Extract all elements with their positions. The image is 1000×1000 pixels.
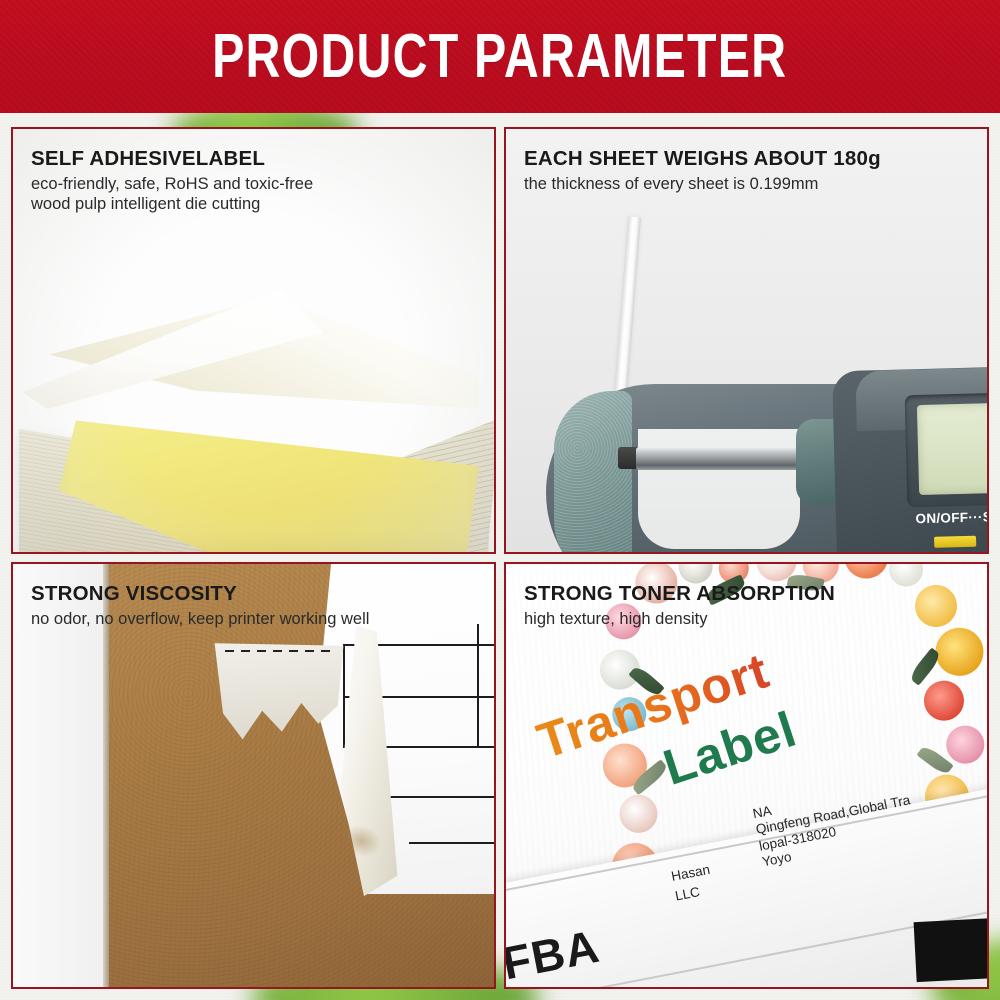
- panel-1-title: SELF ADHESIVELABEL: [31, 147, 478, 171]
- panel-1-subtitle: eco-friendly, safe, RoHS and toxic-free …: [31, 174, 478, 214]
- on-off-set-button[interactable]: [934, 536, 976, 548]
- panel-3-caption: STRONG VISCOSITY no odor, no overflow, k…: [13, 564, 494, 639]
- page-title: PRODUCT PARAMETER: [212, 26, 787, 88]
- panel-4-subtitle: high texture, high density: [524, 609, 971, 629]
- parameter-panel-grid: SELF ADHESIVELABEL eco-friendly, safe, R…: [11, 127, 989, 989]
- page-header: PRODUCT PARAMETER: [0, 0, 1000, 113]
- panel-toner-absorption: Transport Label FBA Hasan LLC Yoyo lopal…: [504, 562, 989, 989]
- micrometer-spindle: [636, 447, 816, 470]
- label-perforation-line: [225, 650, 335, 652]
- panel-4-title: STRONG TONER ABSORPTION: [524, 582, 971, 606]
- panel-4-caption: STRONG TONER ABSORPTION high texture, hi…: [506, 564, 987, 639]
- on-off-set-button-label: ON/OFF···SET: [915, 509, 989, 526]
- leaf: [908, 647, 943, 685]
- micrometer-anvil-pad: [554, 391, 632, 554]
- panel-3-subtitle: no odor, no overflow, keep printer worki…: [31, 609, 478, 629]
- panel-2-subtitle-line-1: the thickness of every sheet is 0.199mm: [524, 174, 971, 194]
- label-table-column-line: [477, 624, 479, 746]
- carrier-code: FBA: [504, 919, 604, 989]
- panel-sheet-weight: 0.199 mm ON/OFF···SET ABS···in/mm 申 ☆ 工®…: [504, 127, 989, 554]
- panel-self-adhesive-label: SELF ADHESIVELABEL eco-friendly, safe, R…: [11, 127, 496, 554]
- micrometer-button-row: ON/OFF···SET ABS···in/mm: [913, 503, 989, 554]
- flower: [945, 725, 985, 765]
- micrometer-lcd-display: 0.199 mm: [917, 397, 989, 495]
- panel-strong-viscosity: STRONG VISCOSITY no odor, no overflow, k…: [11, 562, 496, 989]
- panel-1-subtitle-line-1: eco-friendly, safe, RoHS and toxic-free: [31, 174, 478, 194]
- label-table-column-line: [343, 644, 345, 748]
- label-table-line: [409, 842, 496, 844]
- label-table-line: [389, 796, 496, 798]
- flower: [923, 680, 965, 722]
- shipping-label-barcode-block: [914, 913, 989, 982]
- panel-3-subtitle-line-1: no odor, no overflow, keep printer worki…: [31, 609, 478, 629]
- panel-1-caption: SELF ADHESIVELABEL eco-friendly, safe, R…: [13, 129, 494, 224]
- panel-2-title: EACH SHEET WEIGHS ABOUT 180g: [524, 147, 971, 171]
- panel-4-subtitle-line-1: high texture, high density: [524, 609, 971, 629]
- panel-1-subtitle-line-2: wood pulp intelligent die cutting: [31, 194, 478, 214]
- panel-2-caption: EACH SHEET WEIGHS ABOUT 180g the thickne…: [506, 129, 987, 204]
- panel-2-subtitle: the thickness of every sheet is 0.199mm: [524, 174, 971, 194]
- panel-3-title: STRONG VISCOSITY: [31, 582, 478, 606]
